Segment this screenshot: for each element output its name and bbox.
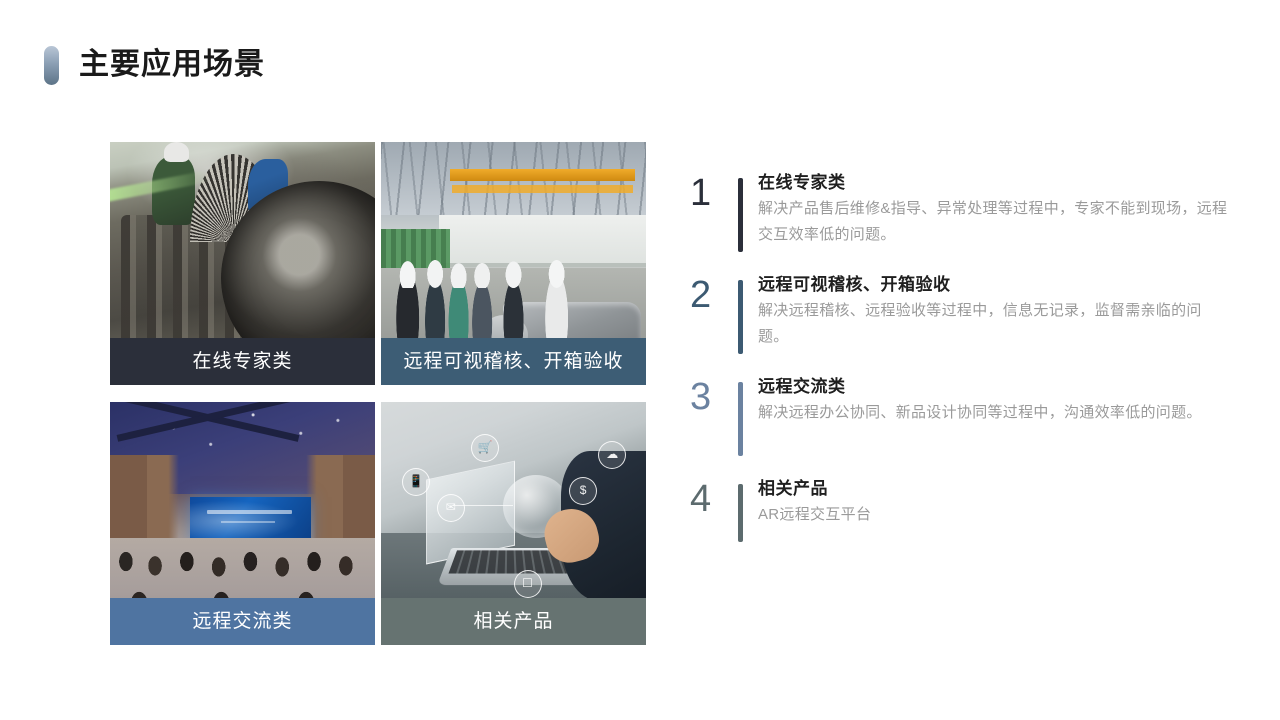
scenario-card-2[interactable]: 远程可视稽核、开箱验收 bbox=[381, 142, 646, 385]
list-item-accent-bar bbox=[738, 382, 743, 456]
page-title: 主要应用场景 bbox=[79, 50, 265, 80]
list-item-text: 在线专家类 解决产品售后维修&指导、异常处理等过程中，专家不能到现场，远程交互效… bbox=[758, 170, 1230, 248]
list-item-accent-bar bbox=[738, 280, 743, 354]
list-item-accent-bar bbox=[738, 178, 743, 252]
list-item-description: 解决远程办公协同、新品设计协同等过程中，沟通效率低的问题。 bbox=[758, 400, 1230, 426]
list-item-accent-bar bbox=[738, 484, 743, 542]
cloud-icon: ☁ bbox=[598, 441, 626, 469]
ceiling-beam bbox=[117, 402, 299, 442]
list-item-number: 3 bbox=[690, 374, 738, 420]
list-item-title: 远程交流类 bbox=[758, 374, 1230, 400]
shopping-cart-icon: 🛒 bbox=[471, 434, 499, 462]
scenario-card-4[interactable]: 🛒 ☁ 📱 ✉ $ ☐ 相关产品 bbox=[381, 402, 646, 645]
list-item[interactable]: 2 远程可视稽核、开箱验收 解决远程稽核、远程验收等过程中，信息无记录，监督需亲… bbox=[690, 272, 1230, 354]
list-item-title: 在线专家类 bbox=[758, 170, 1230, 196]
list-item-number: 1 bbox=[690, 170, 738, 216]
list-item[interactable]: 1 在线专家类 解决产品售后维修&指导、异常处理等过程中，专家不能到现场，远程交… bbox=[690, 170, 1230, 252]
list-item-number: 2 bbox=[690, 272, 738, 318]
worker-figure-icon bbox=[248, 159, 288, 217]
list-item-number: 4 bbox=[690, 476, 738, 522]
mobile-phone-icon: 📱 bbox=[402, 468, 430, 496]
list-item-title: 相关产品 bbox=[758, 476, 1230, 502]
list-item-description: 解决远程稽核、远程验收等过程中，信息无记录，监督需亲临的问题。 bbox=[758, 298, 1230, 350]
scenario-card-caption: 相关产品 bbox=[381, 598, 646, 645]
page-header: 主要应用场景 bbox=[44, 40, 265, 90]
scenario-card-1[interactable]: 在线专家类 bbox=[110, 142, 375, 385]
list-item-description: 解决产品售后维修&指导、异常处理等过程中，专家不能到现场，远程交互效率低的问题。 bbox=[758, 196, 1230, 248]
white-hardhat-row-icon bbox=[392, 249, 588, 288]
scenario-image-grid: 在线专家类 远程可视稽核、开箱验收 远程交流类 bbox=[110, 142, 646, 645]
scenario-card-caption: 在线专家类 bbox=[110, 338, 375, 385]
scenario-description-list: 1 在线专家类 解决产品售后维修&指导、异常处理等过程中，专家不能到现场，远程交… bbox=[690, 170, 1230, 562]
scenario-card-caption: 远程交流类 bbox=[110, 598, 375, 645]
list-item-text: 相关产品 AR远程交互平台 bbox=[758, 476, 1230, 528]
scenario-card-caption: 远程可视稽核、开箱验收 bbox=[381, 338, 646, 385]
list-item[interactable]: 4 相关产品 AR远程交互平台 bbox=[690, 476, 1230, 542]
rounded-bar-icon bbox=[44, 46, 59, 85]
envelope-icon: ✉ bbox=[437, 494, 465, 522]
overhead-crane-icon bbox=[450, 169, 636, 181]
list-item-text: 远程交流类 解决远程办公协同、新品设计协同等过程中，沟通效率低的问题。 bbox=[758, 374, 1230, 426]
document-icon: ☐ bbox=[514, 570, 542, 598]
list-item[interactable]: 3 远程交流类 解决远程办公协同、新品设计协同等过程中，沟通效率低的问题。 bbox=[690, 374, 1230, 456]
list-item-text: 远程可视稽核、开箱验收 解决远程稽核、远程验收等过程中，信息无记录，监督需亲临的… bbox=[758, 272, 1230, 350]
list-item-title: 远程可视稽核、开箱验收 bbox=[758, 272, 1230, 298]
scenario-card-3[interactable]: 远程交流类 bbox=[110, 402, 375, 645]
list-item-description: AR远程交互平台 bbox=[758, 502, 1230, 528]
